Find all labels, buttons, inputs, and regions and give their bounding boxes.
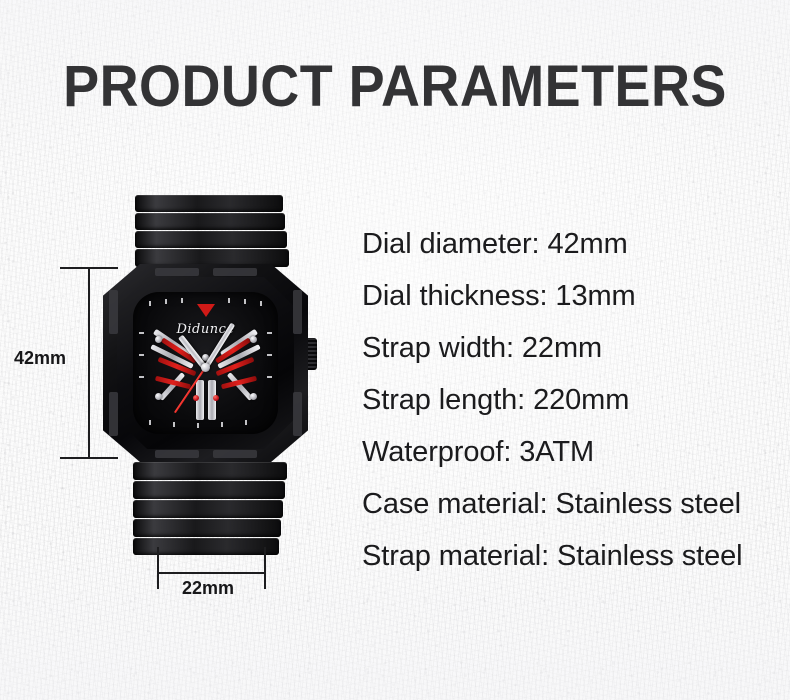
case-guard-bl xyxy=(109,392,118,436)
case-guard-bottom xyxy=(155,450,199,458)
spec-item-case-material: Case material: Stainless steel xyxy=(362,478,782,530)
dial-screw xyxy=(155,336,162,343)
spec-item-strap-material: Strap material: Stainless steel xyxy=(362,530,782,582)
dial-tick xyxy=(260,301,262,306)
strap-link-bottom-2 xyxy=(133,481,285,499)
watch-case: Didunce xyxy=(103,264,308,462)
strap-link-top-3 xyxy=(135,231,287,248)
dial-tick xyxy=(267,354,272,356)
dimension-tick-left xyxy=(157,547,159,589)
dimension-tick-right xyxy=(264,547,266,589)
movement-jewel xyxy=(213,395,219,401)
dimension-line-horizontal xyxy=(158,572,266,574)
case-guard-br xyxy=(293,392,302,436)
dial-tick xyxy=(197,423,199,428)
dial-tick xyxy=(139,376,144,378)
dial-screw xyxy=(250,393,257,400)
strap-link-bottom-4 xyxy=(133,519,281,537)
dial-screw xyxy=(250,336,257,343)
dimension-label-height: 42mm xyxy=(14,348,66,369)
spec-item-dial-thickness: Dial thickness: 13mm xyxy=(362,270,782,322)
watch-dial: Didunce xyxy=(133,292,278,434)
strap-link-bottom-3 xyxy=(133,500,283,518)
dial-tick xyxy=(139,332,144,334)
dial-tick xyxy=(244,299,246,304)
dial-tick xyxy=(149,420,151,425)
spec-item-strap-width: Strap width: 22mm xyxy=(362,322,782,374)
dial-screw xyxy=(155,393,162,400)
page-title: PRODUCT PARAMETERS xyxy=(28,58,763,116)
strap-link-top-1 xyxy=(135,195,283,212)
dial-tick xyxy=(267,332,272,334)
dial-tick xyxy=(173,422,175,427)
strap-link-top-2 xyxy=(135,213,285,230)
dial-12-oclock-marker xyxy=(197,304,215,317)
dial-tick xyxy=(221,422,223,427)
case-guard-tl xyxy=(109,290,118,334)
case-guard-top xyxy=(155,268,199,276)
specification-list: Dial diameter: 42mm Dial thickness: 13mm… xyxy=(362,218,782,582)
spec-item-waterproof: Waterproof: 3ATM xyxy=(362,426,782,478)
dial-tick xyxy=(228,298,230,303)
hands-center-cap xyxy=(201,363,210,372)
dimension-line-vertical xyxy=(88,268,90,458)
dial-tick xyxy=(181,298,183,303)
dial-tick xyxy=(165,299,167,304)
strap-link-bottom-5 xyxy=(133,538,279,555)
movement-jewel xyxy=(193,395,199,401)
dimension-tick-bottom xyxy=(60,457,118,459)
dimension-label-strap-width: 22mm xyxy=(182,578,234,599)
strap-link-bottom-1 xyxy=(133,462,287,480)
product-parameters-page: PRODUCT PARAMETERS xyxy=(0,0,790,700)
spec-item-strap-length: Strap length: 220mm xyxy=(362,374,782,426)
case-guard-top2 xyxy=(213,268,257,276)
dial-tick xyxy=(139,354,144,356)
spec-item-dial-diameter: Dial diameter: 42mm xyxy=(362,218,782,270)
dial-tick xyxy=(149,301,151,306)
dial-tick xyxy=(245,420,247,425)
case-guard-bottom2 xyxy=(213,450,257,458)
case-guard-tr xyxy=(293,290,302,334)
product-watch-image: Didunce xyxy=(95,190,325,570)
dial-tick xyxy=(267,376,272,378)
